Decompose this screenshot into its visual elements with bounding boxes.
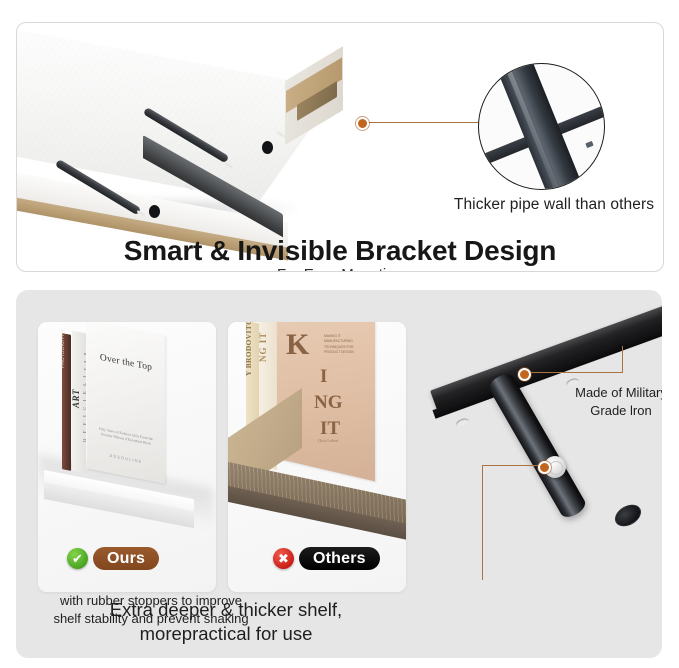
floating-shelf-illustration	[16, 22, 427, 239]
comparison-card-ours: PHOTOGRAPHY ART O F F I C I E L J e a n …	[38, 322, 216, 592]
callout-leader-line	[482, 465, 542, 466]
comparison-card-others: Y BRODOVITCH NG IT MAKING IT MANUFACTURI…	[228, 322, 406, 592]
subheadline: For Easy Mounting	[17, 266, 663, 272]
book-cover-letter-i: I	[320, 366, 327, 388]
book-spine-making-it-label: NG IT	[258, 322, 268, 362]
book-subtitle: Fifty Years of Fashion Gifts From the Pr…	[95, 426, 157, 449]
headline: Smart & Invisible Bracket Design	[17, 235, 663, 267]
callout-leader-line	[524, 372, 623, 373]
book-cover-letter-it: IT	[320, 418, 340, 440]
caption-military-line2: Grade lron	[566, 402, 662, 420]
book-cover-blurb: MAKING IT MANUFACTURING TECHNIQUES FOR P…	[324, 334, 370, 355]
bracket-screw-hole	[149, 205, 160, 218]
caption-rubber-line2: shelf stability and prevent shaking	[20, 610, 282, 628]
callout-leader-line	[364, 122, 482, 123]
book-cover-letter-k: K	[286, 328, 308, 362]
book-cover-signature: Chris Lefteri	[298, 438, 358, 443]
book-spine-brodovitch-label: Y BRODOVITCH	[244, 322, 253, 376]
caption-thicker-pipe: Thicker pipe wall than others	[428, 196, 664, 214]
badge-ours: ✔ Ours	[67, 547, 159, 570]
caption-rubber-line1: with rubber stoppers to improve	[20, 592, 282, 610]
book-cover-over-the-top: Over the Top Fifty Years of Fashion Gift…	[87, 322, 165, 484]
bracket-screw-hole	[455, 417, 470, 428]
badge-ours-label: Ours	[93, 547, 159, 570]
top-feature-card: Thicker pipe wall than others Smart & In…	[16, 22, 664, 272]
pipe-wall-closeup-magnifier	[478, 63, 605, 190]
closeup-pipe-marking	[585, 141, 593, 148]
bracket-screw-hole	[262, 141, 273, 154]
callout-leader-line-vertical	[622, 346, 623, 373]
callout-marker-dot	[538, 461, 551, 474]
badge-others-label: Others	[299, 547, 380, 570]
book-spine-brown-label: PHOTOGRAPHY	[60, 322, 65, 368]
badge-others: ✖ Others	[273, 547, 380, 570]
bracket-detail-illustration: Made of Military Grade lron	[416, 290, 662, 584]
callout-marker-dot	[356, 117, 369, 130]
rubber-stopper-inner-ring	[549, 461, 563, 475]
book-brand: ASSOULINE	[87, 448, 165, 468]
caption-rubber-stoppers: with rubber stoppers to improve shelf st…	[20, 592, 282, 627]
book-title: Over the Top	[87, 350, 165, 375]
caption-military-grade-iron: Made of Military Grade lron	[566, 384, 662, 419]
check-circle-icon: ✔	[67, 548, 88, 569]
bracket-pipe-end-cap	[611, 500, 645, 530]
bottom-panel: PHOTOGRAPHY ART O F F I C I E L J e a n …	[16, 290, 662, 658]
book-spine-art-label: ART	[71, 322, 81, 408]
x-circle-icon: ✖	[273, 548, 294, 569]
book-cover-letter-ng: NG	[314, 392, 343, 414]
infographic-stage: Thicker pipe wall than others Smart & In…	[0, 0, 679, 668]
caption-military-line1: Made of Military	[566, 384, 662, 402]
callout-marker-dot	[518, 368, 531, 381]
callout-leader-line-vertical	[482, 465, 483, 580]
